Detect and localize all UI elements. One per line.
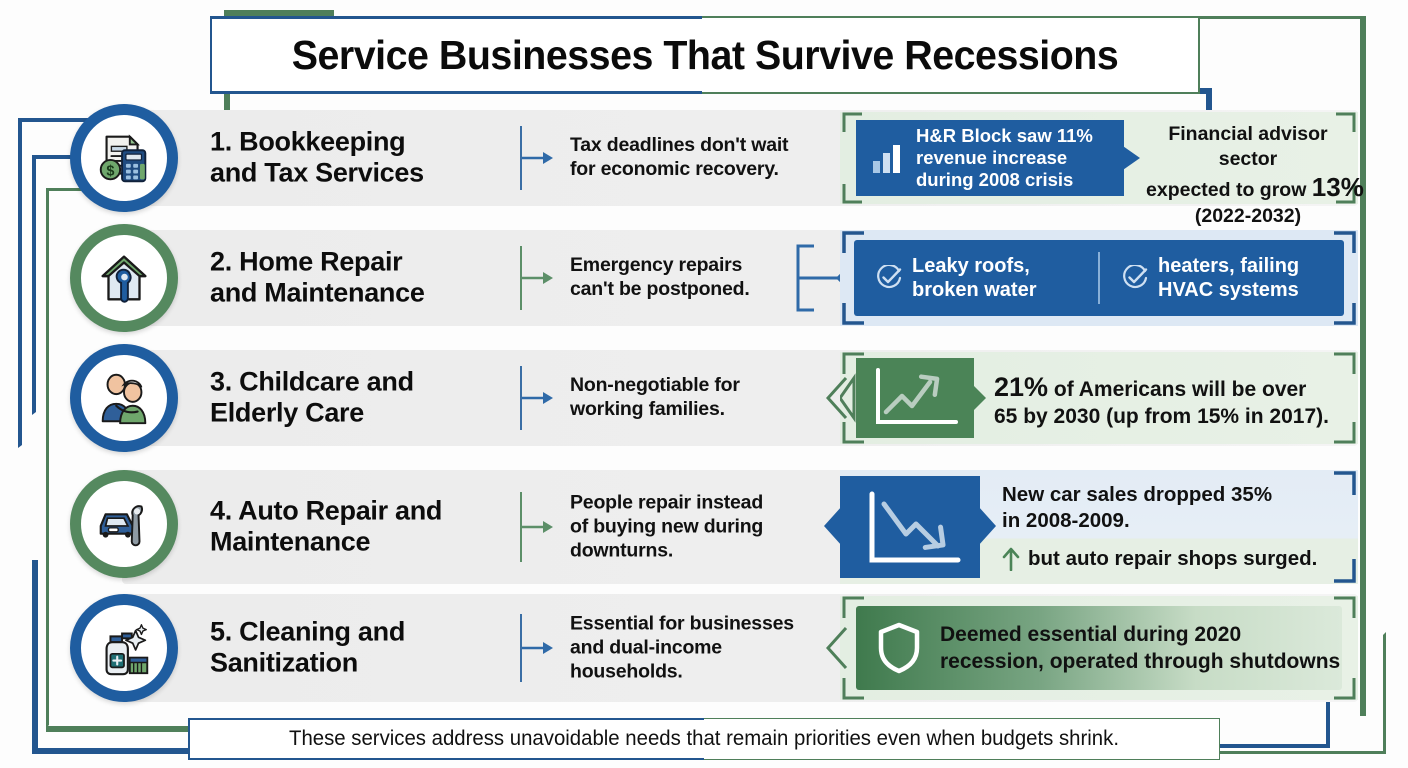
row-title-line2: and Maintenance [210,278,540,309]
check-1-line-1: Leaky roofs, [912,254,1036,278]
chip-arrow-notch [970,382,988,414]
row-home-repair: 2. Home Repair and Maintenance Emergency… [70,230,1358,326]
callout-auto-repair: New car sales dropped 35% in 2008-2009. … [840,470,1358,584]
chip-arrow-notch [1120,144,1142,172]
infographic-canvas: Service Businesses That Survive Recessio… [0,0,1408,768]
corner-frame-left-green-tail [46,726,196,732]
row-title-line1: 2. Home Repair [210,247,540,278]
shield-icon [876,622,922,674]
house-wrench-icon [93,247,155,309]
row-bookkeeping: $ 1. Bookkeeping and Tax Services Tax de… [70,110,1358,206]
row-title-line1: 1. Bookkeeping [210,127,540,158]
chart-chip [856,358,974,438]
footer-banner: These services address unavoidable needs… [188,718,1220,760]
row-title-line2: Sanitization [210,648,540,679]
corner-frame-left-blue-vert [32,560,38,752]
elderly-couple-icon [93,367,155,429]
reason-line-2: of buying new during [570,515,763,539]
text-line-2: recession, operated through shutdowns [940,648,1340,675]
line-chart-up-icon [856,358,974,438]
row-childcare: 3. Childcare and Elderly Care Non-negoti… [70,350,1358,446]
stat-rest-1: of Americans will be over [1048,378,1306,401]
callout-right-text: Financial advisor sector expected to gro… [1146,122,1350,228]
row-title: 1. Bookkeeping and Tax Services [210,127,540,190]
reason-line-1: People repair instead [570,491,763,515]
row-title-line1: 3. Childcare and [210,367,540,398]
stat-chip-hrblock: H&R Block saw 11% revenue increase durin… [856,120,1124,196]
arrow-right-icon [522,151,556,165]
callout-home-repair: Leaky roofs, broken water heaters, faili… [840,230,1358,326]
callout-subline: but auto repair shops surged. [1002,546,1344,572]
text-line-1: 21% of Americans will be over [994,370,1344,404]
left-chevron-notch-icon [826,376,848,420]
text-line-1-pre: New car sales dropped [1002,483,1231,506]
right-line-2: expected to grow 13% [1146,171,1350,204]
chip-line-2: revenue increase [916,147,1093,169]
row-reason: Emergency repairs can't be postponed. [570,254,750,302]
reason-line-3: households. [570,660,794,684]
check-item-1: Leaky roofs, broken water [854,254,1098,302]
left-chevron-notch-icon [824,506,844,546]
checks-panel: Leaky roofs, broken water heaters, faili… [854,240,1344,316]
row-title-line2: Maintenance [210,527,540,558]
row-title-line1: 4. Auto Repair and [210,496,540,527]
row-title-line1: 5. Cleaning and [210,617,540,648]
text-line-2: 65 by 2030 (up from 15% in 2017). [994,404,1344,430]
row-title: 4. Auto Repair and Maintenance [210,496,540,559]
line-chart-down-icon [840,476,980,578]
row-reason: Non-negotiable for working families. [570,374,740,422]
footer-text: These services address unavoidable needs… [203,718,1204,760]
corner-frame-top-right-green-vert [1360,16,1366,716]
reason-line-1: Non-negotiable for [570,374,740,398]
chip-line-3: during 2008 crisis [916,169,1093,191]
check-circle-icon [1122,265,1148,291]
row-title: 3. Childcare and Elderly Care [210,367,540,430]
badge-auto-repair [70,470,178,578]
reason-line-3: downturns. [570,539,763,563]
row-reason: Tax deadlines don't wait for economic re… [570,134,788,182]
chip-arrow-notch [978,506,998,546]
arrow-right-icon [522,391,556,405]
row-auto-repair: 4. Auto Repair and Maintenance People re… [70,470,1358,584]
arrow-right-icon [522,520,556,534]
row-reason: People repair instead of buying new duri… [570,491,763,562]
up-arrow-icon [1002,547,1020,571]
text-line-1: New car sales dropped 35% [1002,482,1344,508]
header-banner: Service Businesses That Survive Recessio… [210,16,1200,94]
stat-big: 21% [994,372,1048,402]
chip-line-1: H&R Block saw 11% [916,125,1093,147]
right-line-1: Financial advisor sector [1146,122,1350,171]
arrow-right-icon [522,641,556,655]
badge-bookkeeping: $ [70,104,178,212]
callout-text: 21% of Americans will be over 65 by 2030… [994,370,1344,430]
badge-cleaning [70,594,178,702]
right-line-2-pre: expected to grow [1146,179,1312,201]
reason-line-1: Emergency repairs [570,254,750,278]
row-title: 5. Cleaning and Sanitization [210,617,540,680]
reason-line-2: for economic recovery. [570,158,788,182]
callout-text: New car sales dropped 35% in 2008-2009. [1002,482,1344,534]
spray-brush-icon [93,617,155,679]
bar-chart-icon [870,141,904,175]
callout-cleaning: Deemed essential during 2020 recession, … [840,594,1358,702]
row-title: 2. Home Repair and Maintenance [210,247,540,310]
svg-text:$: $ [106,163,114,179]
row-title-line2: Elderly Care [210,398,540,429]
reason-line-2: working families. [570,398,740,422]
right-line-2-big: 13% [1312,172,1364,202]
text-line-1: Deemed essential during 2020 [940,621,1340,648]
badge-home-repair [70,224,178,332]
check-circle-icon [876,265,902,291]
corner-frame-left-blue-tail [32,748,202,754]
shield-panel: Deemed essential during 2020 recession, … [856,606,1342,690]
reason-line-1: Tax deadlines don't wait [570,134,788,158]
chart-chip [840,476,980,578]
check-2-line-1: heaters, failing [1158,254,1299,278]
badge-childcare [70,344,178,452]
right-line-3: (2022-2032) [1146,204,1350,229]
text-line-2: in 2008-2009. [1002,508,1344,534]
check-item-2: heaters, failing HVAC systems [1100,254,1344,302]
row-reason: Essential for businesses and dual-income… [570,612,794,683]
text-line-1-bold: 35% [1231,483,1272,506]
arrow-right-icon [522,271,556,285]
reason-line-2: can't be postponed. [570,278,750,302]
car-wrench-icon [93,493,155,555]
shield-text: Deemed essential during 2020 recession, … [940,621,1340,676]
check-1-line-2: broken water [912,278,1036,302]
callout-bookkeeping: H&R Block saw 11% revenue increase durin… [840,110,1358,206]
row-cleaning: 5. Cleaning and Sanitization Essential f… [70,594,1358,702]
reason-line-1: Essential for businesses [570,612,794,636]
left-chevron-notch-icon [826,626,848,670]
check-2-line-2: HVAC systems [1158,278,1299,302]
invoice-calculator-icon: $ [93,127,155,189]
page-title: Service Businesses That Survive Recessio… [230,16,1180,94]
row-title-line2: and Tax Services [210,158,540,189]
callout-childcare: 21% of Americans will be over 65 by 2030… [840,350,1358,446]
reason-line-2: and dual-income [570,636,794,660]
subline-text: but auto repair shops surged. [1028,546,1317,572]
